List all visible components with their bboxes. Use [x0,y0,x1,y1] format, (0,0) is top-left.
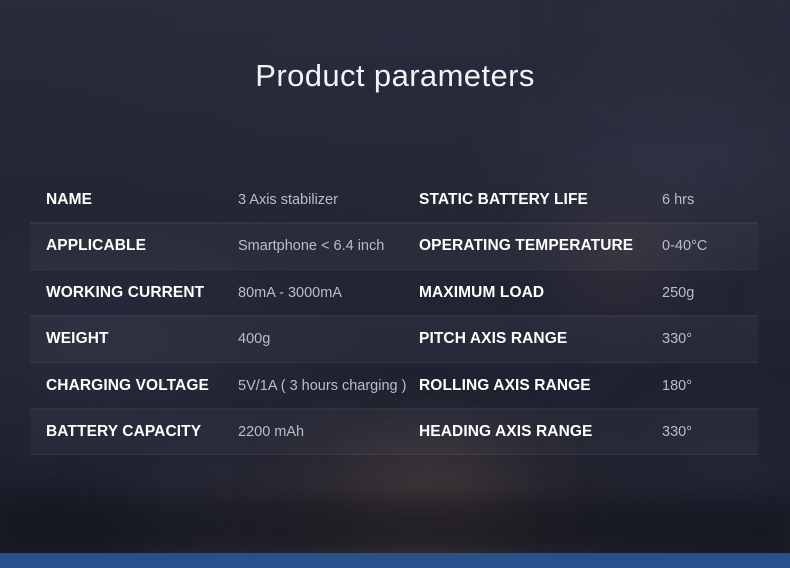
spec-cell-left: APPLICABLE Smartphone < 6.4 inch [30,223,419,269]
table-row: APPLICABLE Smartphone < 6.4 inch OPERATI… [30,223,758,269]
spec-value: 0-40°C [662,223,707,269]
spec-label: MAXIMUM LOAD [419,270,544,316]
spec-value: Smartphone < 6.4 inch [238,223,384,269]
spec-value: 5V/1A ( 3 hours charging ) [238,363,406,409]
spec-table: NAME 3 Axis stabilizer STATIC BATTERY LI… [30,177,758,455]
spec-value: 330° [662,409,692,455]
spec-cell-left: CHARGING VOLTAGE 5V/1A ( 3 hours chargin… [30,363,419,409]
table-row: WORKING CURRENT 80mA - 3000mA MAXIMUM LO… [30,270,758,316]
spec-value: 2200 mAh [238,409,304,455]
table-row: BATTERY CAPACITY 2200 mAh HEADING AXIS R… [30,409,758,455]
spec-cell-right: PITCH AXIS RANGE 330° [419,316,758,362]
spec-cell-right: ROLLING AXIS RANGE 180° [419,363,758,409]
spec-cell-right: HEADING AXIS RANGE 330° [419,409,758,455]
spec-value: 180° [662,363,692,409]
table-row: NAME 3 Axis stabilizer STATIC BATTERY LI… [30,177,758,223]
spec-label: WORKING CURRENT [30,270,204,316]
page-title: Product parameters [0,58,790,94]
spec-value: 6 hrs [662,177,694,223]
spec-cell-left: BATTERY CAPACITY 2200 mAh [30,409,419,455]
spec-value: 250g [662,270,694,316]
spec-cell-right: OPERATING TEMPERATURE 0-40°C [419,223,758,269]
bottom-accent-bar [0,553,790,568]
background-dark-band [0,495,790,553]
spec-value: 400g [238,316,270,362]
spec-label: STATIC BATTERY LIFE [419,177,588,223]
spec-label: OPERATING TEMPERATURE [419,223,633,269]
spec-label: APPLICABLE [30,223,146,269]
table-row: WEIGHT 400g PITCH AXIS RANGE 330° [30,316,758,362]
spec-label: PITCH AXIS RANGE [419,316,567,362]
table-row: CHARGING VOLTAGE 5V/1A ( 3 hours chargin… [30,363,758,409]
spec-label: HEADING AXIS RANGE [419,409,592,455]
spec-value: 3 Axis stabilizer [238,177,338,223]
spec-label: NAME [30,177,92,223]
spec-cell-left: WORKING CURRENT 80mA - 3000mA [30,270,419,316]
spec-value: 330° [662,316,692,362]
spec-cell-left: NAME 3 Axis stabilizer [30,177,419,223]
spec-cell-right: STATIC BATTERY LIFE 6 hrs [419,177,758,223]
spec-value: 80mA - 3000mA [238,270,342,316]
product-parameters-page: Product parameters NAME 3 Axis stabilize… [0,0,790,568]
spec-cell-right: MAXIMUM LOAD 250g [419,270,758,316]
spec-label: BATTERY CAPACITY [30,409,201,455]
spec-label: ROLLING AXIS RANGE [419,363,591,409]
spec-cell-left: WEIGHT 400g [30,316,419,362]
spec-label: WEIGHT [30,316,109,362]
spec-label: CHARGING VOLTAGE [30,363,209,409]
